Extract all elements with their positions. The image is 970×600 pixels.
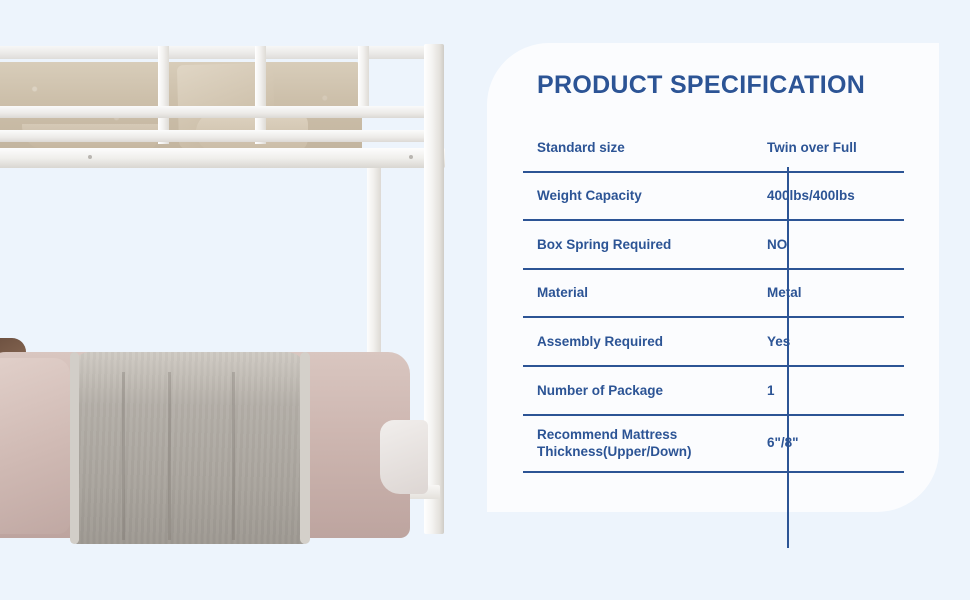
lower-bunk-throw-blanket: [72, 352, 308, 544]
specification-table: Standard size Twin over Full Weight Capa…: [523, 124, 904, 513]
spec-label: Recommend Mattress Thickness(Upper/Down): [523, 426, 751, 461]
product-photo: [0, 0, 470, 600]
guard-rail-post-3: [358, 46, 369, 108]
spec-value: Twin over Full: [751, 139, 904, 156]
spec-value: Yes: [751, 333, 904, 350]
spec-label: Standard size: [523, 139, 751, 156]
table-row: Recommend Mattress Thickness(Upper/Down)…: [523, 416, 904, 473]
table-row: [523, 473, 904, 513]
table-row: Box Spring Required NO: [523, 221, 904, 270]
throw-blanket-crease: [168, 372, 171, 540]
deck-screw-icon: [88, 155, 92, 159]
table-column-divider: [787, 167, 789, 548]
throw-blanket-crease: [122, 372, 125, 540]
screenshot-stage: PRODUCT SPECIFICATION Standard size Twin…: [0, 0, 970, 600]
upper-guard-rail-top: [0, 46, 440, 59]
spec-value: 6"/8": [751, 434, 904, 451]
spec-label: Assembly Required: [523, 333, 751, 350]
spec-value: 400lbs/400lbs: [751, 187, 904, 204]
spec-label: Material: [523, 284, 751, 301]
throw-blanket-hem-right: [300, 352, 310, 544]
spec-value: 1: [751, 382, 904, 399]
lower-bunk-sheet-corner: [380, 420, 428, 494]
spec-label: Number of Package: [523, 382, 751, 399]
table-row: Weight Capacity 400lbs/400lbs: [523, 173, 904, 222]
product-specification-card: PRODUCT SPECIFICATION Standard size Twin…: [487, 43, 939, 512]
upper-guard-rail-lower: [0, 130, 440, 142]
spec-label: Weight Capacity: [523, 187, 751, 204]
table-row: Standard size Twin over Full: [523, 124, 904, 173]
throw-blanket-hem-left: [70, 352, 79, 544]
table-row: Number of Package 1: [523, 367, 904, 416]
spec-value: NO: [751, 236, 904, 253]
lower-bunk-pillow: [0, 358, 70, 534]
spec-label: Box Spring Required: [523, 236, 751, 253]
upper-bunk-deck: [0, 148, 445, 168]
page-title: PRODUCT SPECIFICATION: [537, 71, 865, 100]
deck-screw-icon: [409, 155, 413, 159]
table-row: Assembly Required Yes: [523, 318, 904, 367]
throw-blanket-crease: [232, 372, 235, 540]
upper-guard-rail-middle: [0, 106, 440, 118]
spec-value: Metal: [751, 284, 904, 301]
table-row: Material Metal: [523, 270, 904, 319]
